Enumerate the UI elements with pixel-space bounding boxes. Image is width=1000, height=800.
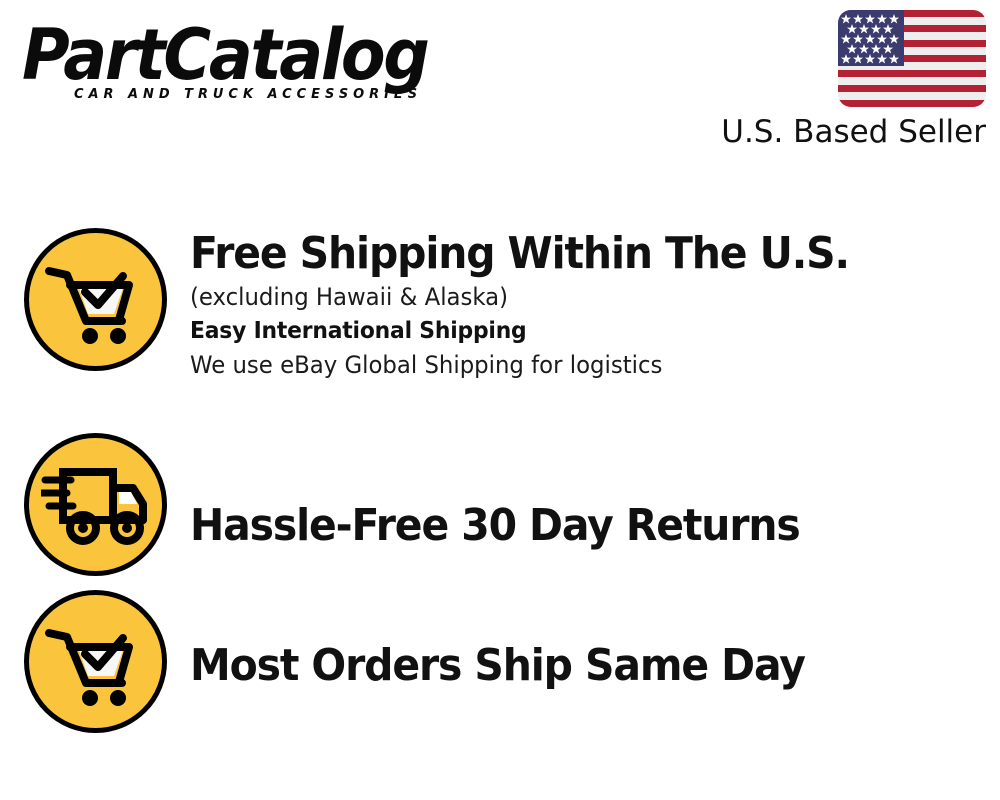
flag-stripe (838, 85, 986, 92)
brand-tagline: CAR AND TRUCK ACCESSORIES (74, 86, 475, 102)
feature-heading: Most Orders Ship Same Day (190, 640, 943, 692)
seller-badge: U.S. Based Seller (716, 10, 986, 150)
delivery-truck-icon (24, 433, 167, 576)
page-header: PartCatalog CAR AND TRUCK ACCESSORIES (0, 0, 1000, 180)
feature-icon-wrapper (0, 433, 190, 576)
shopping-cart-check-icon (24, 228, 167, 371)
feature-row: Hassle-Free 30 Day Returns (0, 418, 1000, 590)
brand-wordmark: PartCatalog (22, 18, 459, 92)
feature-row: Most Orders Ship Same Day (0, 590, 1000, 766)
flag-stripe (838, 77, 986, 84)
feature-text-block: Hassle-Free 30 Day Returns (190, 456, 1000, 552)
feature-icon-wrapper (0, 590, 190, 733)
feature-heading: Hassle-Free 30 Day Returns (190, 500, 943, 552)
shopping-cart-check-glyph (43, 254, 147, 346)
feature-text-block: Free Shipping Within The U.S. (excluding… (190, 228, 1000, 382)
flag-canton (838, 10, 904, 66)
shopping-cart-check-icon (24, 590, 167, 733)
feature-heading: Free Shipping Within The U.S. (190, 228, 943, 280)
flag-stripe (838, 92, 986, 99)
flag-stars (838, 10, 904, 66)
feature-row: Free Shipping Within The U.S. (excluding… (0, 228, 1000, 418)
feature-list: Free Shipping Within The U.S. (excluding… (0, 228, 1000, 766)
feature-secondary-heading: Easy International Shipping (190, 314, 960, 348)
brand-logo[interactable]: PartCatalog CAR AND TRUCK ACCESSORIES (22, 18, 492, 118)
shopping-cart-check-glyph (43, 616, 147, 708)
feature-subtext: (excluding Hawaii & Alaska) (190, 280, 960, 314)
flag-stripe (838, 100, 986, 107)
feature-secondary-subtext: We use eBay Global Shipping for logistic… (190, 348, 960, 382)
seller-badge-label: U.S. Based Seller (716, 114, 986, 150)
feature-text-block: Most Orders Ship Same Day (190, 590, 1000, 692)
us-flag-icon (838, 10, 986, 107)
delivery-truck-glyph (41, 462, 149, 546)
feature-icon-wrapper (0, 228, 190, 371)
flag-stripe (838, 70, 986, 77)
